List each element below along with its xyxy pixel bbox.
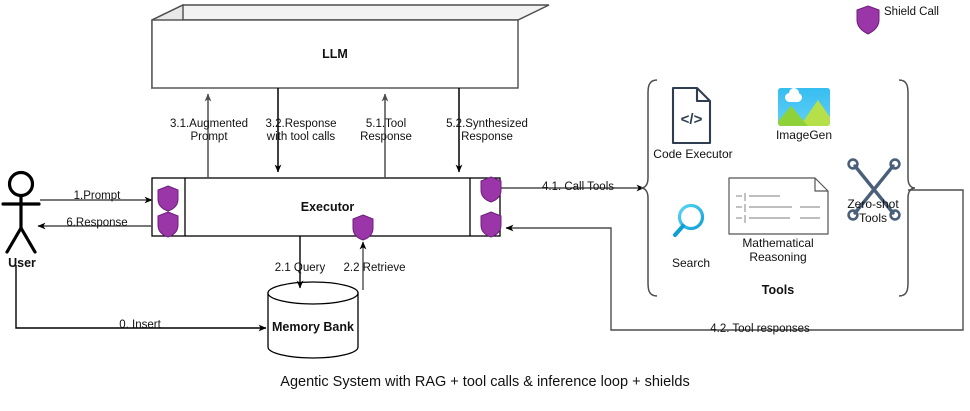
diagram-canvas: </> [0,0,970,411]
formula-document-icon [729,178,828,234]
image-icon-cloud [785,93,802,102]
tool-label-search: Search [651,256,731,270]
code-document-icon: </> [673,88,710,143]
llm-label: LLM [0,47,670,61]
diagram-caption: Agentic System with RAG + tool calls & i… [0,374,970,390]
shield-icon-legend [857,6,879,34]
shield-icon-output-response [158,212,178,237]
tool-label-math: Mathematical Reasoning [722,236,834,264]
shield-icon-tool-response [481,212,501,237]
tool-label-code-executor: Code Executor [648,147,738,161]
shield-icon-input-prompt [158,186,178,211]
edge-label-retrieve: 2.2 Retrieve [327,262,422,275]
edge-label-prompt: 1.Prompt [47,190,147,203]
legend-shield-label: Shield Call [884,6,939,18]
svg-text:</>: </> [681,111,703,128]
memory-bank-label: Memory Bank [248,320,378,334]
user-figure [3,173,39,253]
image-icon [778,88,830,126]
tool-label-imagegen: ImageGen [759,128,849,142]
executor-label: Executor [185,200,470,214]
shield-icon-tool-call [481,177,501,202]
magnifier-icon [675,206,703,236]
tool-label-zeroshot: Zero-shot Tools [830,197,916,225]
diagram-svg: </> [0,0,970,411]
tools-right-brace [899,80,915,296]
tools-group-label: Tools [718,283,838,297]
edge-label-insert: 0. Insert [65,319,215,332]
edge-label-synthesized-response: 5.2.Synthesized Response [423,118,551,144]
edge-label-call-tools: 4.1. Call Tools [523,181,633,194]
edge-label-response: 6.Response [47,217,147,230]
user-label: User [0,256,44,270]
shield-icon-memory-retrieve [353,215,373,240]
edge-label-tool-responses: 4.2. Tool responses [660,323,860,336]
